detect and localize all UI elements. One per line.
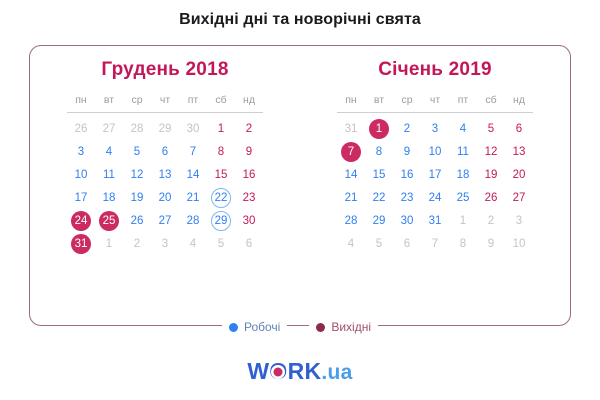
weekday-label-fri: пт bbox=[179, 90, 207, 113]
calendar-day-weekend[interactable]: 15 bbox=[207, 163, 235, 186]
weekday-label-sun: нд bbox=[505, 90, 533, 113]
month-january: Січень 2019 пн вт ср чт пт сб нд 3112345… bbox=[300, 46, 570, 255]
day-pill-working: 22 bbox=[211, 188, 231, 208]
calendar-day-working-marked[interactable]: 22 bbox=[207, 186, 235, 209]
calendar-day-working[interactable]: 13 bbox=[151, 163, 179, 186]
calendar-day-other-month: 31 bbox=[337, 113, 365, 141]
calendar-day-other-month: 3 bbox=[151, 232, 179, 255]
calendar-day-weekend[interactable]: 8 bbox=[207, 140, 235, 163]
calendar-day-weekend[interactable]: 9 bbox=[235, 140, 263, 163]
weekday-label-thu: чт bbox=[421, 90, 449, 113]
calendar-day-working[interactable]: 6 bbox=[151, 140, 179, 163]
calendar-day-working[interactable]: 11 bbox=[449, 140, 477, 163]
calendar-day-working[interactable]: 31 bbox=[421, 209, 449, 232]
legend-label-working: Робочі bbox=[244, 320, 280, 334]
calendar-day-other-month: 4 bbox=[179, 232, 207, 255]
calendar-day-working[interactable]: 21 bbox=[179, 186, 207, 209]
calendar-day-working[interactable]: 10 bbox=[67, 163, 95, 186]
calendar-day-working[interactable]: 11 bbox=[95, 163, 123, 186]
calendar-day-working[interactable]: 27 bbox=[151, 209, 179, 232]
calendar-day-other-month: 10 bbox=[505, 232, 533, 255]
calendar-day-other-month: 30 bbox=[179, 113, 207, 141]
legend-item-working: Робочі bbox=[222, 320, 287, 334]
calendar-card: Грудень 2018 пн вт ср чт пт сб нд 262728… bbox=[29, 45, 571, 326]
calendar-week-row: 24252627282930 bbox=[67, 209, 263, 232]
weekday-label-sun: нд bbox=[235, 90, 263, 113]
calendar-day-other-month: 5 bbox=[365, 232, 393, 255]
calendar-day-working[interactable]: 25 bbox=[449, 186, 477, 209]
calendar-day-holiday[interactable]: 7 bbox=[337, 140, 365, 163]
weekday-label-wed: ср bbox=[393, 90, 421, 113]
calendar-day-working[interactable]: 24 bbox=[421, 186, 449, 209]
calendar-day-working[interactable]: 16 bbox=[393, 163, 421, 186]
calendar-day-working[interactable]: 28 bbox=[179, 209, 207, 232]
calendar-day-working[interactable]: 17 bbox=[67, 186, 95, 209]
calendar-day-working[interactable]: 3 bbox=[67, 140, 95, 163]
calendar-day-working[interactable]: 15 bbox=[365, 163, 393, 186]
month-title-december: Грудень 2018 bbox=[30, 59, 300, 81]
calendar-day-working[interactable]: 19 bbox=[123, 186, 151, 209]
calendar-grid-december: пн вт ср чт пт сб нд 2627282930123456789… bbox=[67, 90, 263, 255]
calendar-day-weekend[interactable]: 6 bbox=[505, 113, 533, 141]
calendar-day-other-month: 6 bbox=[235, 232, 263, 255]
calendar-day-working[interactable]: 14 bbox=[179, 163, 207, 186]
calendar-day-working[interactable]: 20 bbox=[151, 186, 179, 209]
day-pill-holiday: 31 bbox=[71, 234, 91, 254]
page-title: Вихідні дні та новорічні свята bbox=[0, 11, 600, 29]
calendar-day-other-month: 1 bbox=[449, 209, 477, 232]
month-title-january: Січень 2019 bbox=[300, 59, 570, 81]
logo-suffix-ua: .ua bbox=[321, 361, 352, 384]
calendar-week-row: 17181920212223 bbox=[67, 186, 263, 209]
logo-letter-o: O bbox=[269, 358, 287, 385]
calendar-day-other-month: 6 bbox=[393, 232, 421, 255]
calendar-grid-january: пн вт ср чт пт сб нд 3112345678910111213… bbox=[337, 90, 533, 255]
calendar-day-other-month: 3 bbox=[505, 209, 533, 232]
calendar-day-other-month: 9 bbox=[477, 232, 505, 255]
calendar-day-weekend[interactable]: 13 bbox=[505, 140, 533, 163]
calendar-day-working[interactable]: 10 bbox=[421, 140, 449, 163]
calendar-week-row: 28293031123 bbox=[337, 209, 533, 232]
calendar-day-weekend[interactable]: 30 bbox=[235, 209, 263, 232]
calendar-day-weekend[interactable]: 19 bbox=[477, 163, 505, 186]
calendar-day-working[interactable]: 4 bbox=[449, 113, 477, 141]
calendar-day-working[interactable]: 26 bbox=[123, 209, 151, 232]
weekday-label-tue: вт bbox=[365, 90, 393, 113]
calendar-day-holiday[interactable]: 1 bbox=[365, 113, 393, 141]
calendar-week-row: 78910111213 bbox=[337, 140, 533, 163]
calendar-day-working[interactable]: 12 bbox=[123, 163, 151, 186]
weekday-label-mon: пн bbox=[67, 90, 95, 113]
calendar-day-other-month: 2 bbox=[477, 209, 505, 232]
calendar-day-working[interactable]: 29 bbox=[365, 209, 393, 232]
legend-label-weekend: Вихідні bbox=[331, 320, 371, 334]
calendar-day-holiday[interactable]: 31 bbox=[67, 232, 95, 255]
calendar-day-other-month: 1 bbox=[95, 232, 123, 255]
weekday-label-thu: чт bbox=[151, 90, 179, 113]
calendar-day-holiday[interactable]: 25 bbox=[95, 209, 123, 232]
months-container: Грудень 2018 пн вт ср чт пт сб нд 262728… bbox=[30, 46, 570, 255]
calendar-body-january: 3112345678910111213141516171819202122232… bbox=[337, 113, 533, 256]
calendar-day-working[interactable]: 30 bbox=[393, 209, 421, 232]
calendar-day-working[interactable]: 21 bbox=[337, 186, 365, 209]
calendar-day-other-month: 28 bbox=[123, 113, 151, 141]
calendar-week-row: 45678910 bbox=[337, 232, 533, 255]
logo-letter-w: W bbox=[247, 358, 269, 384]
weekday-header-row: пн вт ср чт пт сб нд bbox=[337, 90, 533, 113]
weekday-label-wed: ср bbox=[123, 90, 151, 113]
calendar-day-working[interactable]: 17 bbox=[421, 163, 449, 186]
calendar-week-row: 31123456 bbox=[337, 113, 533, 141]
calendar-day-working[interactable]: 2 bbox=[393, 113, 421, 141]
calendar-body-december: 2627282930123456789101112131415161718192… bbox=[67, 113, 263, 256]
calendar-day-working[interactable]: 28 bbox=[337, 209, 365, 232]
calendar-day-working[interactable]: 7 bbox=[179, 140, 207, 163]
circle-dot-icon bbox=[316, 323, 325, 332]
calendar-day-other-month: 29 bbox=[151, 113, 179, 141]
day-pill-holiday: 7 bbox=[341, 142, 361, 162]
calendar-day-working[interactable]: 14 bbox=[337, 163, 365, 186]
calendar-day-weekend[interactable]: 23 bbox=[235, 186, 263, 209]
weekday-label-fri: пт bbox=[449, 90, 477, 113]
weekday-label-sat: сб bbox=[477, 90, 505, 113]
circle-dot-icon bbox=[229, 323, 238, 332]
day-pill-working: 29 bbox=[211, 211, 231, 231]
calendar-day-other-month: 7 bbox=[421, 232, 449, 255]
day-pill-holiday: 25 bbox=[99, 211, 119, 231]
logo-letters-rk: RK bbox=[288, 358, 322, 384]
day-pill-holiday: 24 bbox=[71, 211, 91, 231]
calendar-day-working[interactable]: 3 bbox=[421, 113, 449, 141]
calendar-day-weekend[interactable]: 2 bbox=[235, 113, 263, 141]
legend: Робочі Вихідні bbox=[30, 320, 570, 334]
calendar-day-working[interactable]: 22 bbox=[365, 186, 393, 209]
legend-item-weekend: Вихідні bbox=[309, 320, 378, 334]
calendar-day-other-month: 5 bbox=[207, 232, 235, 255]
calendar-day-weekend[interactable]: 26 bbox=[477, 186, 505, 209]
weekday-label-sat: сб bbox=[207, 90, 235, 113]
calendar-day-working[interactable]: 9 bbox=[393, 140, 421, 163]
calendar-day-other-month: 27 bbox=[95, 113, 123, 141]
weekday-header-row: пн вт ср чт пт сб нд bbox=[67, 90, 263, 113]
calendar-day-working[interactable]: 4 bbox=[95, 140, 123, 163]
calendar-day-working[interactable]: 23 bbox=[393, 186, 421, 209]
calendar-week-row: 262728293012 bbox=[67, 113, 263, 141]
calendar-day-other-month: 8 bbox=[449, 232, 477, 255]
calendar-day-other-month: 2 bbox=[123, 232, 151, 255]
calendar-day-weekend[interactable]: 20 bbox=[505, 163, 533, 186]
calendar-day-other-month: 4 bbox=[337, 232, 365, 255]
calendar-day-holiday[interactable]: 24 bbox=[67, 209, 95, 232]
calendar-day-working[interactable]: 18 bbox=[449, 163, 477, 186]
calendar-week-row: 31123456 bbox=[67, 232, 263, 255]
calendar-week-row: 10111213141516 bbox=[67, 163, 263, 186]
calendar-day-working-marked[interactable]: 29 bbox=[207, 209, 235, 232]
calendar-day-working[interactable]: 8 bbox=[365, 140, 393, 163]
workua-logo: WORK.ua bbox=[0, 358, 600, 385]
logo-center-dot-icon bbox=[274, 367, 283, 376]
calendar-day-other-month: 26 bbox=[67, 113, 95, 141]
calendar-day-weekend[interactable]: 12 bbox=[477, 140, 505, 163]
day-pill-holiday: 1 bbox=[369, 119, 389, 139]
weekday-label-tue: вт bbox=[95, 90, 123, 113]
calendar-week-row: 3456789 bbox=[67, 140, 263, 163]
weekday-label-mon: пн bbox=[337, 90, 365, 113]
calendar-day-weekend[interactable]: 16 bbox=[235, 163, 263, 186]
calendar-day-working[interactable]: 18 bbox=[95, 186, 123, 209]
calendar-day-working[interactable]: 5 bbox=[123, 140, 151, 163]
calendar-day-weekend[interactable]: 27 bbox=[505, 186, 533, 209]
calendar-week-row: 14151617181920 bbox=[337, 163, 533, 186]
calendar-day-weekend[interactable]: 5 bbox=[477, 113, 505, 141]
calendar-day-weekend[interactable]: 1 bbox=[207, 113, 235, 141]
month-december: Грудень 2018 пн вт ср чт пт сб нд 262728… bbox=[30, 46, 300, 255]
calendar-week-row: 21222324252627 bbox=[337, 186, 533, 209]
